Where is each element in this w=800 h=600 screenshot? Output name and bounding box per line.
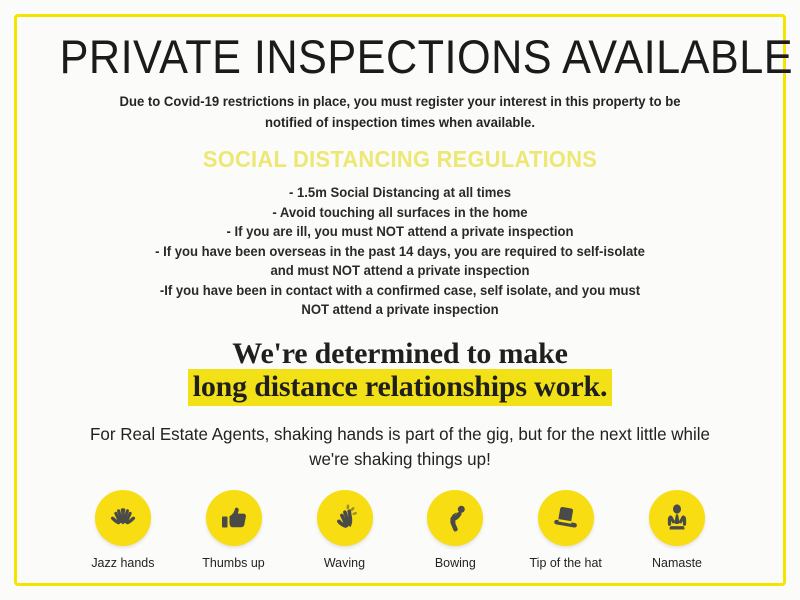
top-hat-icon [538, 490, 594, 546]
section-heading-social-distancing: SOCIAL DISTANCING REGULATIONS [49, 146, 752, 173]
greeting-label: Jazz hands [92, 555, 155, 570]
greeting-item-waving: Waving [289, 490, 400, 570]
waving-hand-icon [317, 490, 373, 546]
bowing-person-icon [427, 490, 483, 546]
tagline: We're determined to make long distance r… [30, 337, 770, 403]
rule-item: -If you have been in contact with a conf… [41, 281, 759, 301]
rule-item: NOT attend a private inspection [41, 300, 759, 320]
thumbs-up-icon [206, 490, 262, 546]
greeting-item-jazz-hands: Jazz hands [68, 490, 179, 570]
namaste-icon [649, 490, 705, 546]
greeting-label: Namaste [652, 555, 702, 570]
rule-item: - 1.5m Social Distancing at all times [41, 183, 759, 203]
tagline-line-1: We're determined to make [30, 337, 770, 370]
greeting-label: Tip of the hat [530, 555, 602, 570]
greeting-item-namaste: Namaste [621, 490, 732, 570]
greeting-label: Waving [324, 555, 365, 570]
tagline-line-2-highlighted: long distance relationships work. [30, 370, 770, 403]
greeting-item-tip-of-the-hat: Tip of the hat [511, 490, 622, 570]
tagline-highlight-text: long distance relationships work. [188, 369, 613, 406]
greeting-label: Bowing [435, 555, 476, 570]
greeting-item-bowing: Bowing [400, 490, 511, 570]
rule-item: - If you have been overseas in the past … [41, 242, 759, 262]
greeting-label: Thumbs up [203, 555, 265, 570]
greeting-item-thumbs-up: Thumbs up [179, 490, 290, 570]
social-distancing-rules-list: - 1.5m Social Distancing at all times - … [30, 183, 770, 320]
poster-content: PRIVATE INSPECTIONS AVAILABLE Due to Cov… [0, 0, 800, 600]
rule-item: - Avoid touching all surfaces in the hom… [41, 203, 759, 223]
greeting-icon-row: Jazz hands Thumbs up [60, 490, 740, 570]
jazz-hands-icon [95, 490, 151, 546]
page-title: PRIVATE INSPECTIONS AVAILABLE [60, 32, 741, 81]
rule-item: - If you are ill, you must NOT attend a … [41, 222, 759, 242]
poster: PRIVATE INSPECTIONS AVAILABLE Due to Cov… [0, 0, 800, 600]
rule-item: and must NOT attend a private inspection [41, 261, 759, 281]
covid-notice-text: Due to Covid-19 restrictions in place, y… [99, 92, 700, 134]
closing-message: For Real Estate Agents, shaking hands is… [85, 422, 716, 472]
